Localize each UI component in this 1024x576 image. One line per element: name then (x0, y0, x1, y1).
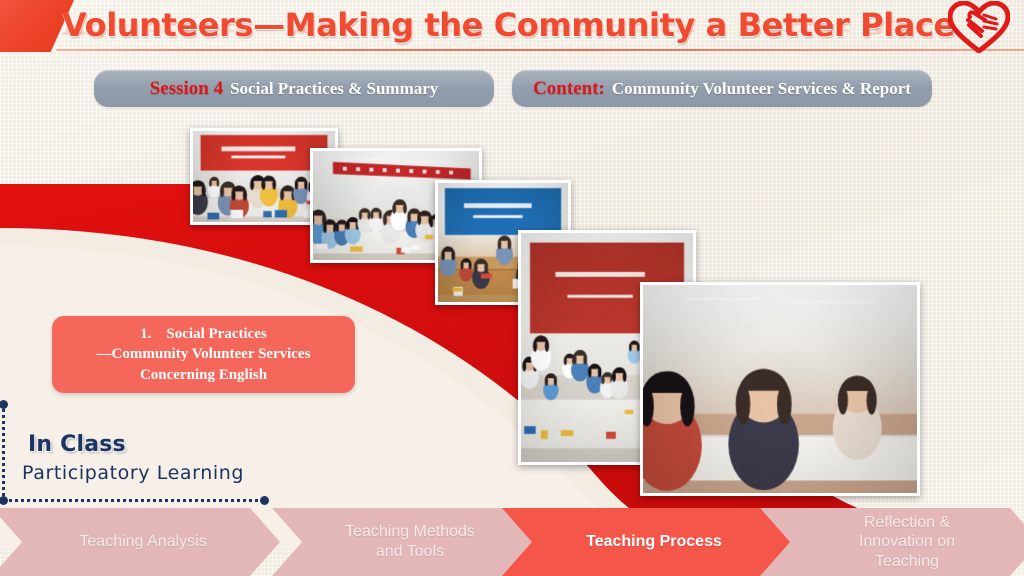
callout-line-3: Concerning English (140, 365, 267, 385)
nav-step-teaching-analysis[interactable]: Teaching Analysis (0, 508, 280, 576)
nav-step-label: Reflection &Innovation onTeaching (831, 513, 969, 572)
nav-step-teaching-process[interactable]: Teaching Process (502, 508, 792, 576)
nav-step-teaching-methods-and-tools[interactable]: Teaching Methodsand Tools (272, 508, 534, 576)
nav-step-label: Teaching Analysis (51, 532, 220, 552)
heart-hand-icon (948, 1, 1010, 53)
page-title: Volunteers—Making the Community a Better… (62, 6, 912, 44)
session-label: Session 4 (150, 78, 223, 100)
participatory-learning-subheading: Participatory Learning (22, 462, 244, 484)
collage-photo-5 (640, 282, 920, 496)
in-class-heading: In Class (28, 432, 126, 457)
note-corner-dot-bottom-right (260, 496, 269, 505)
session-info-pill: Session 4 Social Practices & Summary (94, 70, 494, 107)
session-topic: Social Practices & Summary (230, 79, 438, 99)
content-info-pill: Content: Community Volunteer Services & … (512, 70, 932, 107)
process-nav-bar: Teaching Analysis Teaching Methodsand To… (0, 508, 1024, 576)
nav-step-label: Teaching Process (558, 532, 736, 552)
content-label: Content: (533, 78, 605, 100)
callout-line-1: 1. Social Practices (140, 324, 267, 344)
nav-step-label: Teaching Methodsand Tools (317, 522, 489, 561)
slide-canvas: Volunteers—Making the Community a Better… (0, 0, 1024, 576)
content-topic: Community Volunteer Services & Report (612, 79, 911, 99)
header-divider-rule (56, 49, 1024, 51)
social-practices-callout: 1. Social Practices —Community Volunteer… (52, 316, 355, 393)
slide-header: Volunteers—Making the Community a Better… (0, 0, 1024, 56)
note-corner-dot-top (0, 400, 8, 409)
nav-step-reflection-and-innovation[interactable]: Reflection &Innovation onTeaching (760, 508, 1024, 576)
callout-line-2: —Community Volunteer Services (97, 344, 311, 364)
